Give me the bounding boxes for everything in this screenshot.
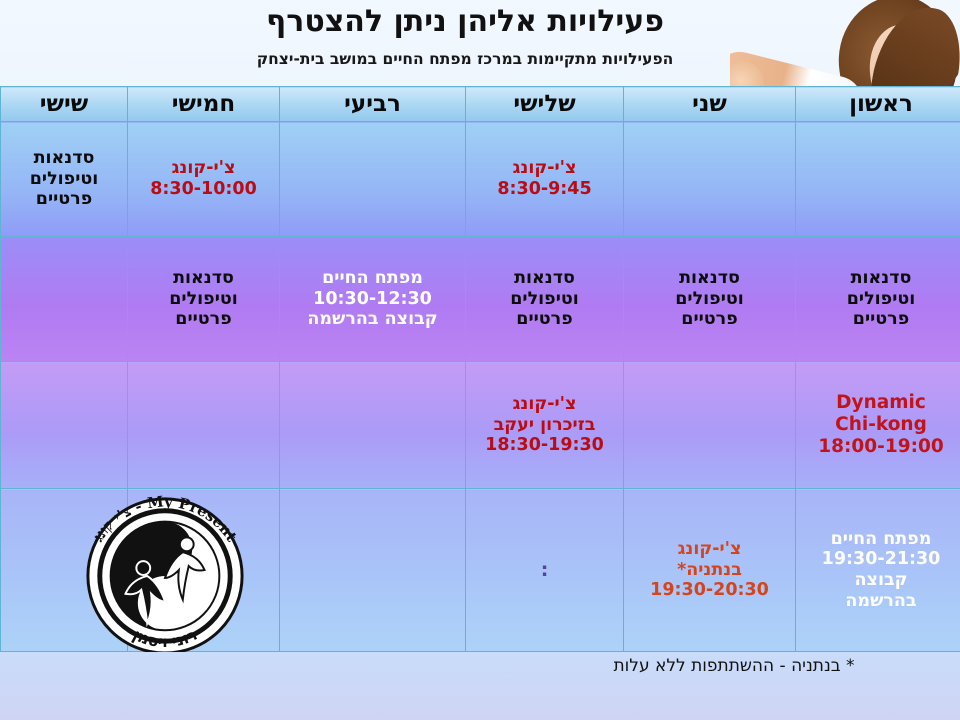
- schedule-cell-r4-c4[interactable]: [280, 489, 466, 652]
- cell-content: [624, 362, 795, 488]
- page-subtitle: הפעילויות מתקיימות במרכז מפתח החיים במוש…: [0, 50, 930, 68]
- cell-content: צ'י-קונגבזיכרון יעקב18:30-19:30: [466, 362, 623, 488]
- cell-line: צ'י-קונג: [513, 394, 577, 415]
- cell-content: DynamicChi-kong18:00-19:00: [796, 362, 960, 488]
- cell-line: סדנאות: [679, 268, 740, 289]
- page-title: פעילויות אליהן ניתן להצטרף: [0, 4, 930, 39]
- cell-line: פרטיים: [853, 309, 909, 330]
- cell-content: [280, 362, 465, 488]
- schedule-cell-r2-c1[interactable]: סדנאותוטיפוליםפרטיים: [796, 237, 960, 362]
- column-header-3: שלישי: [466, 87, 624, 122]
- cell-line: 18:30-19:30: [485, 435, 604, 456]
- cell-content: סדנאותוטיפוליםפרטיים: [796, 237, 960, 361]
- schedule-cell-r2-c3[interactable]: סדנאותוטיפוליםפרטיים: [466, 237, 624, 362]
- cell-line: וטיפולים: [30, 169, 99, 190]
- cell-content: מפתח החיים10:30-12:30קבוצה בהרשמה: [280, 237, 465, 361]
- cell-line: קבוצה בהרשמה: [307, 309, 437, 330]
- cell-line: צ'י-קונג: [678, 539, 742, 560]
- cell-content: [280, 122, 465, 236]
- column-header-4: רביעי: [280, 87, 466, 122]
- table-row: סדנאותוטיפוליםפרטייםסדנאותוטיפוליםפרטיים…: [1, 237, 960, 362]
- cell-line: צ'י-קונג: [172, 158, 236, 179]
- cell-content: סדנאותוטיפוליםפרטיים: [1, 122, 127, 236]
- schedule-cell-r3-c5[interactable]: [128, 362, 280, 489]
- cell-line: פרטיים: [516, 309, 572, 330]
- column-header-label: שני: [692, 91, 727, 117]
- cell-line: 19:30-20:30: [650, 580, 769, 601]
- cell-line: פרטיים: [681, 309, 737, 330]
- footer-bar: * בנתניה - ההשתתפות ללא עלות: [0, 652, 960, 720]
- cell-line: מפתח החיים: [322, 268, 423, 289]
- table-row: צ'י-קונג8:30-9:45צ'י-קונג8:30-10:00סדנאו…: [1, 122, 960, 237]
- cell-line: בנתניה*: [677, 560, 742, 581]
- schedule-cell-r3-c3[interactable]: צ'י-קונגבזיכרון יעקב18:30-19:30: [466, 362, 624, 489]
- schedule-cell-r1-c4[interactable]: [280, 122, 466, 237]
- cell-line: וטיפולים: [675, 289, 744, 310]
- cell-line: וטיפולים: [510, 289, 579, 310]
- table-row: DynamicChi-kong18:00-19:00צ'י-קונגבזיכרו…: [1, 362, 960, 489]
- cell-line: וטיפולים: [847, 289, 916, 310]
- cell-content: צ'י-קונג8:30-10:00: [128, 122, 279, 236]
- cell-line: קבוצה: [855, 570, 908, 591]
- cell-content: סדנאותוטיפוליםפרטיים: [466, 237, 623, 361]
- cell-line: 8:30-10:00: [150, 179, 257, 200]
- cell-content: [128, 362, 279, 488]
- cell-content: [624, 122, 795, 236]
- cell-line: 8:30-9:45: [497, 179, 591, 200]
- cell-content: [1, 237, 127, 361]
- schedule-cell-r4-c1[interactable]: מפתח החיים19:30-21:30קבוצהבהרשמה: [796, 489, 960, 652]
- schedule-cell-r1-c6[interactable]: סדנאותוטיפוליםפרטיים: [1, 122, 128, 237]
- cell-line: 10:30-12:30: [313, 289, 432, 310]
- column-header-label: חמישי: [172, 91, 235, 117]
- schedule-page: פעילויות אליהן ניתן להצטרף הפעילויות מתק…: [0, 0, 960, 720]
- table-header-row: ראשוןשנישלישירביעיחמישישישי: [1, 87, 960, 122]
- schedule-cell-r1-c1[interactable]: [796, 122, 960, 237]
- schedule-cell-r4-c2[interactable]: צ'י-קונגבנתניה*19:30-20:30: [624, 489, 796, 652]
- schedule-cell-r2-c2[interactable]: סדנאותוטיפוליםפרטיים: [624, 237, 796, 362]
- cell-line: :: [541, 559, 549, 581]
- schedule-cell-r2-c5[interactable]: סדנאותוטיפוליםפרטיים: [128, 237, 280, 362]
- schedule-cell-r3-c2[interactable]: [624, 362, 796, 489]
- column-header-5: חמישי: [128, 87, 280, 122]
- cell-content: צ'י-קונגבנתניה*19:30-20:30: [624, 489, 795, 651]
- cell-line: סדנאות: [173, 268, 234, 289]
- cell-line: פרטיים: [175, 309, 231, 330]
- cell-line: 19:30-21:30: [822, 549, 941, 570]
- cell-line: בהרשמה: [845, 591, 916, 612]
- footnote-free-participation: * בנתניה - ההשתתפות ללא עלות: [524, 656, 944, 676]
- cell-content: [796, 122, 960, 236]
- cell-content: סדנאותוטיפוליםפרטיים: [128, 237, 279, 361]
- cell-content: [1, 362, 127, 488]
- cell-line: Dynamic: [836, 392, 926, 414]
- cell-line: סדנאות: [851, 268, 912, 289]
- column-header-6: שישי: [1, 87, 128, 122]
- brand-logo[interactable]: My Present - צ'י קונג רוני ויסמן: [66, 487, 264, 655]
- column-header-2: שני: [624, 87, 796, 122]
- schedule-cell-r1-c3[interactable]: צ'י-קונג8:30-9:45: [466, 122, 624, 237]
- schedule-cell-r3-c6[interactable]: [1, 362, 128, 489]
- cell-line: צ'י-קונג: [513, 158, 577, 179]
- page-header: פעילויות אליהן ניתן להצטרף הפעילויות מתק…: [0, 0, 960, 86]
- cell-content: :: [466, 489, 623, 651]
- cell-line: מפתח החיים: [831, 529, 932, 550]
- schedule-cell-r1-c2[interactable]: [624, 122, 796, 237]
- column-header-label: ראשון: [849, 91, 913, 117]
- schedule-cell-r1-c5[interactable]: צ'י-קונג8:30-10:00: [128, 122, 280, 237]
- column-header-label: שלישי: [513, 91, 575, 117]
- cell-line: סדנאות: [34, 148, 95, 169]
- cell-line: בזיכרון יעקב: [494, 415, 596, 436]
- schedule-cell-r4-c3[interactable]: :: [466, 489, 624, 652]
- schedule-cell-r2-c6[interactable]: [1, 237, 128, 362]
- cell-line: Chi-kong: [835, 414, 927, 436]
- cell-line: סדנאות: [514, 268, 575, 289]
- schedule-cell-r3-c4[interactable]: [280, 362, 466, 489]
- schedule-cell-r3-c1[interactable]: DynamicChi-kong18:00-19:00: [796, 362, 960, 489]
- column-header-1: ראשון: [796, 87, 960, 122]
- cell-content: מפתח החיים19:30-21:30קבוצהבהרשמה: [796, 489, 960, 651]
- cell-line: פרטיים: [36, 189, 92, 210]
- cell-content: [280, 489, 465, 651]
- cell-line: 18:00-19:00: [818, 436, 943, 458]
- cell-content: סדנאותוטיפוליםפרטיים: [624, 237, 795, 361]
- schedule-cell-r2-c4[interactable]: מפתח החיים10:30-12:30קבוצה בהרשמה: [280, 237, 466, 362]
- column-header-label: שישי: [40, 91, 88, 117]
- cell-content: צ'י-קונג8:30-9:45: [466, 122, 623, 236]
- cell-line: וטיפולים: [169, 289, 238, 310]
- column-header-label: רביעי: [344, 91, 401, 117]
